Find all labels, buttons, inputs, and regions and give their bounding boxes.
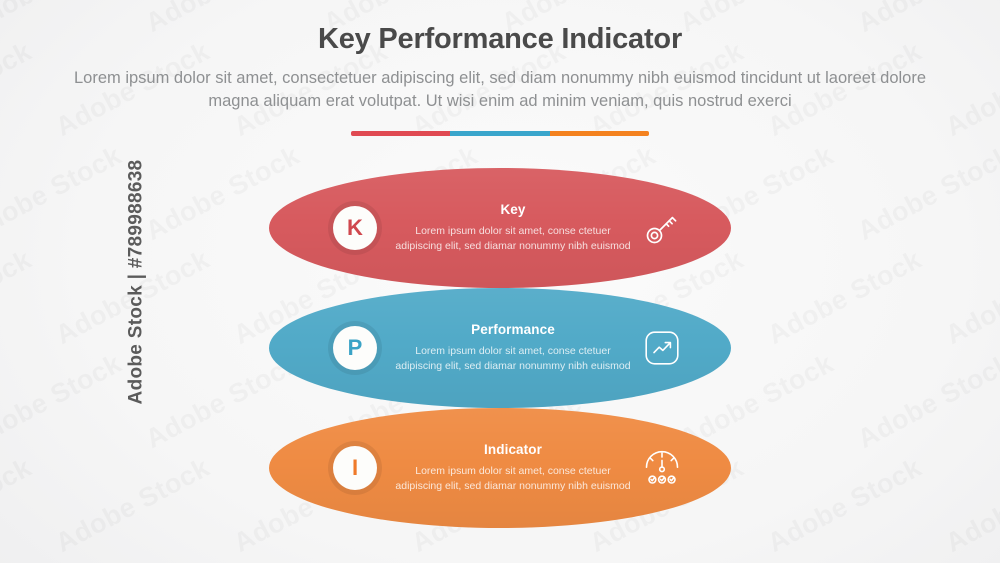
watermark-tile: Adobe Stock <box>51 452 215 559</box>
infographic-canvas: Adobe StockAdobe StockAdobe StockAdobe S… <box>0 0 1000 563</box>
watermark-tile: Adobe Stock <box>763 452 927 559</box>
header: Key Performance Indicator Lorem ipsum do… <box>0 22 1000 114</box>
badge-letter-text: I <box>352 457 358 479</box>
badge-letter-text: P <box>348 337 363 359</box>
watermark-tile: Adobe Stock <box>941 244 1000 351</box>
watermark-tile: Adobe Stock <box>853 140 1000 247</box>
watermark-tile: Adobe Stock <box>0 140 127 247</box>
watermark-tile: Adobe Stock <box>0 348 127 455</box>
badge-letter-text: K <box>347 217 363 239</box>
watermark-tile: Adobe Stock <box>497 556 661 563</box>
key-icon <box>639 205 685 251</box>
badge-letter-indicator: I <box>333 446 377 490</box>
page-subtitle: Lorem ipsum dolor sit amet, consectetuer… <box>60 67 940 114</box>
watermark-tile: Adobe Stock <box>0 452 37 559</box>
section-performance[interactable]: P Performance Lorem ipsum dolor sit amet… <box>269 288 731 408</box>
divider-segment-red <box>351 131 450 136</box>
watermark-tile: Adobe Stock <box>141 556 305 563</box>
watermark-tile: Adobe Stock <box>0 556 127 563</box>
section-body-indicator: Lorem ipsum dolor sit amet, conse ctetue… <box>395 464 631 494</box>
watermark-tile: Adobe Stock <box>853 556 1000 563</box>
section-text-performance: Performance Lorem ipsum dolor sit amet, … <box>395 322 631 374</box>
section-indicator[interactable]: I Indicator Lorem ipsum dolor sit amet, … <box>269 408 731 528</box>
watermark-tile: Adobe Stock <box>675 556 839 563</box>
section-title-performance: Performance <box>395 322 631 337</box>
page-title: Key Performance Indicator <box>0 22 1000 57</box>
section-key[interactable]: K Key Lorem ipsum dolor sit amet, conse … <box>269 168 731 288</box>
watermark-tile: Adobe Stock <box>763 244 927 351</box>
section-text-indicator: Indicator Lorem ipsum dolor sit amet, co… <box>395 442 631 494</box>
color-divider-bar <box>351 131 649 136</box>
divider-segment-orange <box>550 131 649 136</box>
watermark-tile: Adobe Stock <box>853 348 1000 455</box>
stock-credit-watermark: Adobe Stock | #789988638 <box>125 159 147 404</box>
gauge-meter-icon <box>639 445 685 491</box>
divider-segment-blue <box>450 131 549 136</box>
badge-letter-performance: P <box>333 326 377 370</box>
section-body-performance: Lorem ipsum dolor sit amet, conse ctetue… <box>395 344 631 374</box>
section-body-key: Lorem ipsum dolor sit amet, conse ctetue… <box>395 224 631 254</box>
watermark-tile: Adobe Stock <box>0 244 37 351</box>
section-title-indicator: Indicator <box>395 442 631 457</box>
section-title-key: Key <box>395 202 631 217</box>
trend-up-chart-icon <box>639 325 685 371</box>
section-text-key: Key Lorem ipsum dolor sit amet, conse ct… <box>395 202 631 254</box>
watermark-tile: Adobe Stock <box>941 452 1000 559</box>
watermark-tile: Adobe Stock <box>319 556 483 563</box>
badge-letter-key: K <box>333 206 377 250</box>
